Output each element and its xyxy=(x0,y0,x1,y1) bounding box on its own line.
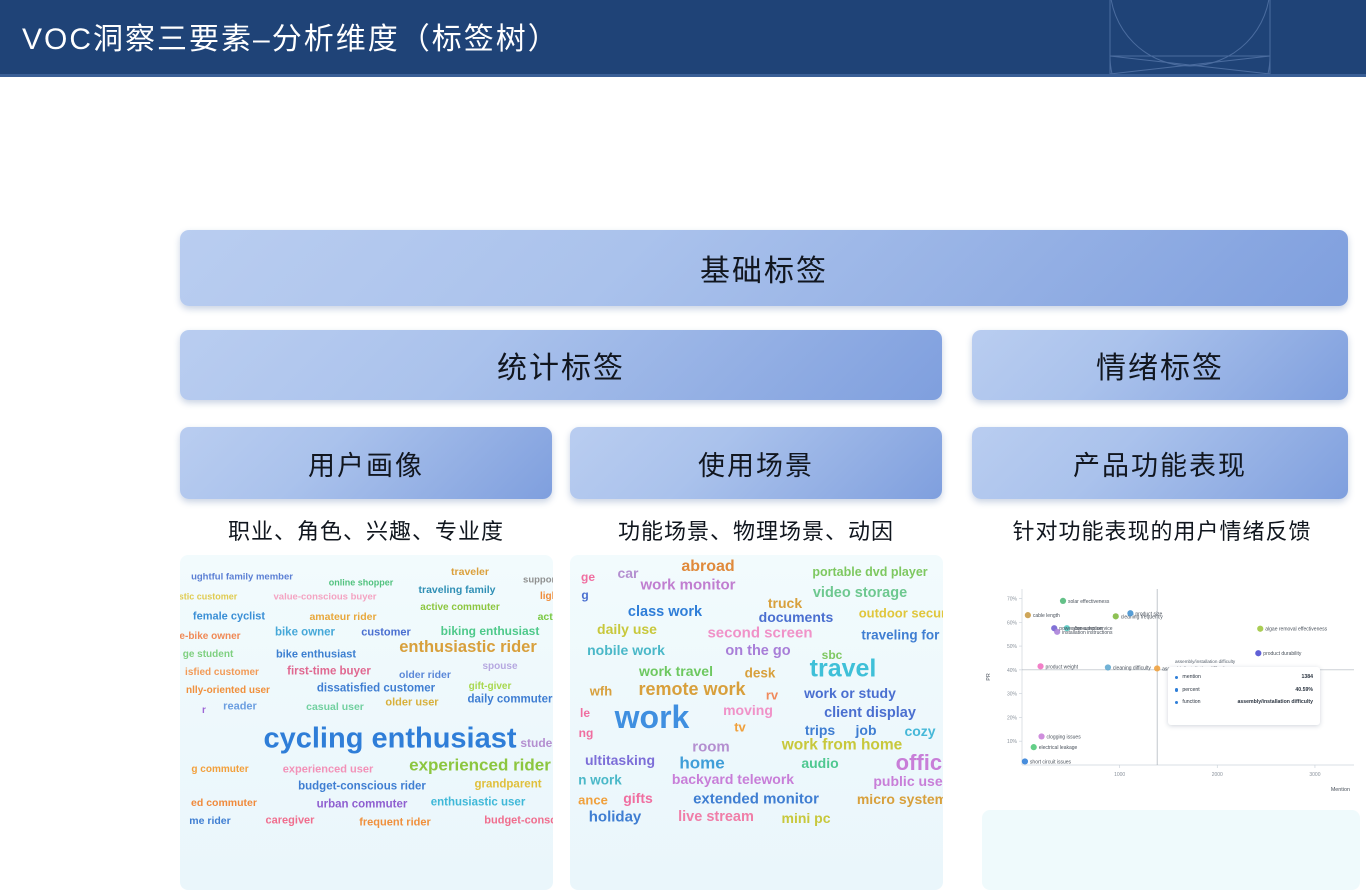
chart-tooltip-row: mention 1384 xyxy=(1175,671,1313,684)
panel-feature-footer xyxy=(982,810,1360,890)
wordcloud-term[interactable]: student xyxy=(520,737,553,749)
chart-tooltip-value: assembly/installation difficulty xyxy=(1232,699,1313,705)
wordcloud-term[interactable]: nlly-oriented user xyxy=(186,686,270,696)
chart-tooltip-value: 1384 xyxy=(1232,674,1313,680)
wordcloud-term[interactable]: female cyclist xyxy=(193,612,265,623)
slide-body: 基础标签 统计标签 情绪标签 用户画像 使用场景 产品功能表现 职业、角色、兴趣… xyxy=(0,77,1366,816)
wordcloud-term[interactable]: mini pc xyxy=(781,811,830,825)
wordcloud-term[interactable]: micro system xyxy=(857,792,943,806)
wordcloud-term[interactable]: older rider xyxy=(399,670,451,681)
scatter-point[interactable] xyxy=(1255,650,1261,656)
y-axis-tick-label: 50% xyxy=(1007,644,1018,650)
wordcloud-term[interactable]: abroad xyxy=(681,559,734,575)
wordcloud-term[interactable]: g xyxy=(581,589,588,601)
wordcloud-term[interactable]: audio xyxy=(801,756,838,770)
wordcloud-term[interactable]: casual user xyxy=(306,702,364,713)
wordcloud-term[interactable]: outdoor security xyxy=(859,607,943,620)
tag-box-product-feature[interactable]: 产品功能表现 xyxy=(972,427,1348,499)
wordcloud-term[interactable]: video storage xyxy=(813,586,907,601)
scatter-point-label: cleaning difficulty xyxy=(1113,665,1151,671)
wordcloud-term[interactable]: documents xyxy=(759,610,834,624)
wordcloud-term[interactable]: rv xyxy=(766,689,778,702)
wordcloud-term[interactable]: dissatisfied customer xyxy=(317,683,435,695)
tag-box-emotion[interactable]: 情绪标签 xyxy=(972,330,1348,400)
scatter-point-label: installation instructions xyxy=(1062,630,1113,636)
wordcloud-term[interactable]: caregiver xyxy=(266,816,315,827)
wordcloud-term[interactable]: ance xyxy=(578,794,608,807)
tag-box-emotion-label: 情绪标签 xyxy=(1096,343,1224,387)
scatter-point[interactable] xyxy=(1257,626,1263,632)
scatter-point[interactable] xyxy=(1054,629,1060,635)
chart-tooltip: assembly/installation difficulty mention… xyxy=(1168,667,1320,725)
wordcloud-term[interactable]: live stream xyxy=(678,810,754,825)
wordcloud-term[interactable]: older user xyxy=(385,698,438,709)
wordcloud-term[interactable]: budget-conscious rider xyxy=(298,781,426,793)
scatter-point[interactable] xyxy=(1113,613,1119,619)
wordcloud-term[interactable]: active commuter xyxy=(420,603,499,613)
wordcloud-term[interactable]: n work xyxy=(578,773,622,787)
y-axis-tick-label: 40% xyxy=(1007,668,1018,674)
wordcloud-term[interactable]: work xyxy=(615,701,690,733)
scatter-point-label: short circuit issues xyxy=(1030,759,1072,765)
scatter-point-label: product weight xyxy=(1046,664,1079,670)
geometric-arc-pattern-icon xyxy=(1080,0,1300,74)
wordcloud-term[interactable]: car xyxy=(617,566,638,580)
y-axis-tick-label: 10% xyxy=(1007,739,1018,745)
wordcloud-term[interactable]: bike enthusiast xyxy=(276,650,356,661)
scatter-point-label: product size xyxy=(1135,611,1162,617)
tag-box-statistical[interactable]: 统计标签 xyxy=(180,330,942,400)
wordcloud-term[interactable]: moving xyxy=(723,703,773,717)
chart-tooltip-value: 40.59% xyxy=(1232,687,1313,693)
scatter-point[interactable] xyxy=(1037,663,1043,669)
wordcloud-term[interactable]: reader xyxy=(223,702,257,713)
wordcloud-term[interactable]: enthusiastic user xyxy=(431,797,526,809)
tooltip-dot-icon xyxy=(1175,688,1178,691)
wordcloud-term[interactable]: desk xyxy=(745,666,776,680)
wordcloud-term[interactable]: online shopper xyxy=(329,579,394,588)
wordcloud-term[interactable]: traveling family xyxy=(418,585,495,596)
wordcloud-term[interactable]: backyard telework xyxy=(672,772,794,786)
wordcloud-term[interactable]: remote work xyxy=(638,680,745,698)
scatter-point-label: cable length xyxy=(1033,613,1060,619)
wordcloud-term[interactable]: frequent rider xyxy=(359,818,431,829)
wordcloud-term[interactable]: trips xyxy=(805,723,835,737)
wordcloud-term[interactable]: enthusiastic rider xyxy=(399,639,537,656)
wordcloud-term[interactable]: gift-giver xyxy=(469,682,512,692)
scatter-point[interactable] xyxy=(1060,598,1066,604)
scatter-point[interactable] xyxy=(1038,733,1044,739)
wordcloud-term[interactable]: daily use xyxy=(597,622,657,636)
wordcloud-term[interactable]: ng xyxy=(579,727,594,739)
x-axis-title: Mention xyxy=(1331,787,1350,793)
x-axis-tick-label: 1000 xyxy=(1114,772,1125,778)
wordcloud-term[interactable]: class work xyxy=(628,605,702,620)
wordcloud-term[interactable]: work from home xyxy=(782,737,903,753)
tooltip-dot-icon xyxy=(1175,676,1178,679)
wordcloud-term[interactable]: nobile work xyxy=(587,643,665,657)
panel-usage-scene-wordcloud: gecarabroadportable dvd playertablework … xyxy=(570,555,943,890)
wordcloud-term[interactable]: urban commuter xyxy=(317,799,408,811)
wordcloud-term[interactable]: g commuter xyxy=(191,765,248,775)
wordcloud-term[interactable]: bike owner xyxy=(275,627,335,639)
wordcloud-term[interactable]: wfh xyxy=(590,685,612,698)
wordcloud-term[interactable]: value-conscious buyer xyxy=(274,592,377,602)
y-axis-tick-label: 20% xyxy=(1007,715,1018,721)
chart-tooltip-row: function assembly/installation difficult… xyxy=(1175,696,1313,709)
wordcloud-term[interactable]: spouse xyxy=(482,662,517,672)
wordcloud-term[interactable]: amateur rider xyxy=(309,612,376,623)
wordcloud-term[interactable]: cycling enthusiast xyxy=(263,725,516,754)
wordcloud-term[interactable]: experienced rider xyxy=(409,757,551,774)
tag-box-usage-scene-label: 使用场景 xyxy=(698,444,814,483)
wordcloud-term[interactable]: office xyxy=(896,752,943,774)
tag-box-statistical-label: 统计标签 xyxy=(497,343,625,387)
chart-tooltip-key: mention xyxy=(1182,674,1232,680)
scatter-point[interactable] xyxy=(1031,744,1037,750)
x-axis-tick-label: 2000 xyxy=(1212,772,1223,778)
wordcloud-term[interactable]: biking enthusiast xyxy=(441,625,540,637)
tag-box-base[interactable]: 基础标签 xyxy=(180,230,1348,306)
x-axis-tick-label: 3000 xyxy=(1309,772,1320,778)
wordcloud-term[interactable]: truck xyxy=(768,596,802,610)
wordcloud-term[interactable]: cozy xyxy=(904,724,935,738)
wordcloud-term[interactable]: isfied customer xyxy=(185,668,259,678)
scatter-point-label: electrical leakage xyxy=(1039,745,1078,751)
wordcloud-term[interactable]: work monitor xyxy=(640,578,735,593)
wordcloud-term[interactable]: client display xyxy=(824,706,916,721)
scatter-point-label: solar effectiveness xyxy=(1068,599,1110,605)
wordcloud-term[interactable]: ge xyxy=(581,571,595,583)
wordcloud-term[interactable]: holiday xyxy=(589,810,642,825)
wordcloud-term[interactable]: public use xyxy=(873,774,942,788)
tag-box-base-label: 基础标签 xyxy=(700,246,828,290)
chart-tooltip-title: assembly/installation difficulty xyxy=(1175,659,1235,664)
wordcloud-term[interactable]: grandparent xyxy=(474,779,541,791)
wordcloud-term[interactable]: ed commuter xyxy=(191,798,257,809)
wordcloud-term[interactable]: r xyxy=(202,706,206,716)
wordcloud-term[interactable]: me rider xyxy=(189,816,230,827)
wordcloud-term[interactable]: light rider xyxy=(540,592,553,602)
wordcloud-term[interactable]: tv xyxy=(734,721,746,734)
caption-product-feature: 针对功能表现的用户情绪反馈 xyxy=(964,514,1360,546)
y-axis-tick-label: 70% xyxy=(1007,597,1018,603)
wordcloud-term[interactable]: travel xyxy=(810,657,877,682)
wordcloud-term[interactable]: on the go xyxy=(725,644,790,659)
tag-box-product-feature-label: 产品功能表现 xyxy=(1073,444,1247,483)
chart-tooltip-row: percent 40.59% xyxy=(1175,684,1313,697)
wordcloud-term[interactable]: home xyxy=(679,755,724,772)
chart-tooltip-key: function xyxy=(1182,699,1232,705)
wordcloud-term[interactable]: daily commuter xyxy=(468,694,553,706)
page-title: VOC洞察三要素–分析维度（标签树） xyxy=(22,14,560,58)
scatter-point[interactable] xyxy=(1022,758,1028,764)
wordcloud-term[interactable]: supportive partner xyxy=(523,575,553,585)
wordcloud-usage-scene[interactable]: gecarabroadportable dvd playertablework … xyxy=(570,555,943,890)
wordcloud-term[interactable]: portable dvd player xyxy=(812,566,927,579)
y-axis-tick-label: 60% xyxy=(1007,620,1018,626)
panel-feature-scatter-chart: 70%60%50%40%30%20%10%100020003000Mention… xyxy=(982,577,1360,805)
scatter-point[interactable] xyxy=(1127,610,1133,616)
wordcloud-term[interactable]: e-bike owner xyxy=(180,632,241,642)
wordcloud-term[interactable]: le xyxy=(580,707,590,719)
wordcloud-term[interactable]: active user xyxy=(538,612,553,623)
wordcloud-term[interactable]: ultitasking xyxy=(585,753,655,767)
wordcloud-term[interactable]: traveling for work xyxy=(861,628,943,642)
wordcloud-term[interactable]: extended monitor xyxy=(693,792,819,807)
caption-usage-scene: 功能场景、物理场景、动因 xyxy=(570,514,942,546)
wordcloud-term[interactable]: ge student xyxy=(183,650,234,660)
page-header: VOC洞察三要素–分析维度（标签树） xyxy=(0,0,1366,74)
tag-box-usage-scene[interactable]: 使用场景 xyxy=(570,427,942,499)
scatter-point[interactable] xyxy=(1025,612,1031,618)
y-axis-tick-label: 30% xyxy=(1007,692,1018,698)
scatter-point-label: algae removal effectiveness xyxy=(1265,627,1327,633)
tag-box-user-persona-label: 用户画像 xyxy=(308,444,424,483)
scatter-point[interactable] xyxy=(1154,665,1160,671)
wordcloud-term[interactable]: second screen xyxy=(707,626,812,641)
wordcloud-term[interactable]: ughtful family member xyxy=(191,572,293,582)
y-axis-title: PR xyxy=(986,673,992,681)
tag-box-user-persona[interactable]: 用户画像 xyxy=(180,427,552,499)
scatter-point-label: product durability xyxy=(1263,651,1302,657)
wordcloud-term[interactable]: gifts xyxy=(623,791,653,805)
wordcloud-term[interactable]: job xyxy=(856,723,877,737)
scatter-point[interactable] xyxy=(1105,664,1111,670)
wordcloud-term[interactable]: work or study xyxy=(804,686,896,700)
wordcloud-term[interactable]: work travel xyxy=(639,664,713,678)
panel-user-persona-wordcloud: ughtful family memberonline shoppertrave… xyxy=(180,555,553,890)
wordcloud-term[interactable]: room xyxy=(692,740,730,755)
wordcloud-term[interactable]: stic customer xyxy=(180,593,237,602)
wordcloud-term[interactable]: budget-conscious parent xyxy=(484,816,553,827)
chart-tooltip-key: percent xyxy=(1182,687,1232,693)
tooltip-dot-icon xyxy=(1175,701,1178,704)
scatter-point-label: clogging issues xyxy=(1047,734,1082,740)
wordcloud-term[interactable]: experienced user xyxy=(283,765,374,776)
wordcloud-user-persona[interactable]: ughtful family memberonline shoppertrave… xyxy=(180,555,553,890)
wordcloud-term[interactable]: traveler xyxy=(451,567,489,578)
wordcloud-term[interactable]: first-time buyer xyxy=(287,666,371,678)
caption-user-persona: 职业、角色、兴趣、专业度 xyxy=(180,514,552,546)
